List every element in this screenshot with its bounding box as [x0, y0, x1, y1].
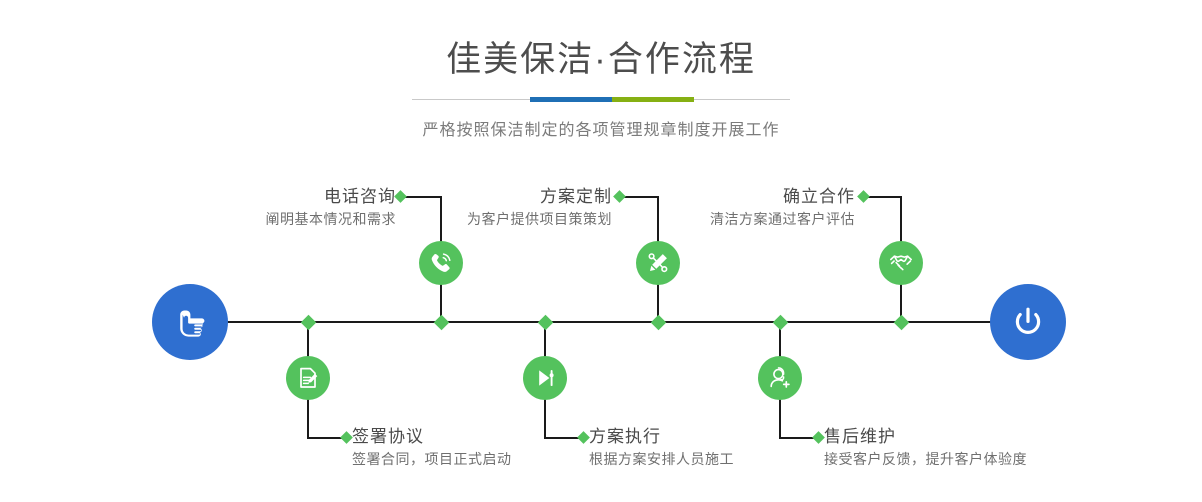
step-title-1: 电话咨询 — [180, 186, 396, 208]
step-node-4[interactable] — [523, 356, 567, 400]
step-desc-2: 签署合同，项目正式启动 — [352, 448, 512, 470]
axis-marker-6 — [773, 315, 789, 331]
axis-marker-3 — [651, 315, 667, 331]
step-desc-1: 阐明基本情况和需求 — [180, 208, 396, 230]
step-label-1: 电话咨询 阐明基本情况和需求 — [180, 186, 396, 230]
divider-segment-blue — [530, 97, 612, 102]
document-sign-icon — [295, 365, 321, 391]
step-label-2: 签署协议 签署合同，项目正式启动 — [352, 426, 512, 470]
timeline-end-badge — [990, 284, 1066, 360]
step-node-1[interactable] — [419, 241, 463, 285]
customer-service-icon — [767, 365, 793, 391]
step-desc-6: 接受客户反馈，提升客户体验度 — [824, 448, 1027, 470]
step-leader-tip-5 — [857, 190, 870, 203]
step-title-2: 签署协议 — [352, 426, 512, 448]
pointing-hand-icon — [169, 301, 211, 343]
pencil-design-icon — [645, 250, 671, 276]
power-icon — [1007, 301, 1049, 343]
step-node-3[interactable] — [636, 241, 680, 285]
step-leader-tip-3 — [613, 190, 626, 203]
step-label-3: 方案定制 为客户提供项目策策划 — [398, 186, 612, 230]
step-desc-3: 为客户提供项目策策划 — [398, 208, 612, 230]
step-label-4: 方案执行 根据方案安排人员施工 — [589, 426, 734, 470]
page-subtitle: 严格按照保洁制定的各项管理规章制度开展工作 — [0, 103, 1202, 140]
cooperation-process-infographic: 佳美保洁·合作流程 严格按照保洁制定的各项管理规章制度开展工作 — [0, 0, 1202, 502]
step-node-6[interactable] — [758, 356, 802, 400]
step-title-6: 售后维护 — [824, 426, 1027, 448]
step-leader-tip-6 — [812, 431, 825, 444]
step-leader-tip-2 — [340, 431, 353, 444]
divider-segment-green — [612, 97, 694, 102]
title-divider — [412, 97, 790, 103]
page-title: 佳美保洁·合作流程 — [0, 0, 1202, 82]
step-node-2[interactable] — [286, 356, 330, 400]
phone-call-icon — [428, 250, 454, 276]
axis-marker-1 — [434, 315, 450, 331]
axis-marker-5 — [894, 315, 910, 331]
step-node-5[interactable] — [879, 241, 923, 285]
step-label-5: 确立合作 清洁方案通过客户评估 — [640, 186, 855, 230]
axis-marker-2 — [301, 315, 317, 331]
step-leader-riser-1 — [440, 196, 442, 243]
play-execute-icon — [532, 365, 558, 391]
step-leader-riser-5 — [900, 196, 902, 243]
step-leader-riser-3 — [657, 196, 659, 243]
axis-marker-4 — [538, 315, 554, 331]
header: 佳美保洁·合作流程 严格按照保洁制定的各项管理规章制度开展工作 — [0, 0, 1202, 140]
step-desc-4: 根据方案安排人员施工 — [589, 448, 734, 470]
step-leader-tip-4 — [577, 431, 590, 444]
timeline-start-badge — [152, 284, 228, 360]
handshake-icon — [888, 250, 914, 276]
step-title-4: 方案执行 — [589, 426, 734, 448]
step-desc-5: 清洁方案通过客户评估 — [640, 208, 855, 230]
step-label-6: 售后维护 接受客户反馈，提升客户体验度 — [824, 426, 1027, 470]
step-title-5: 确立合作 — [640, 186, 855, 208]
